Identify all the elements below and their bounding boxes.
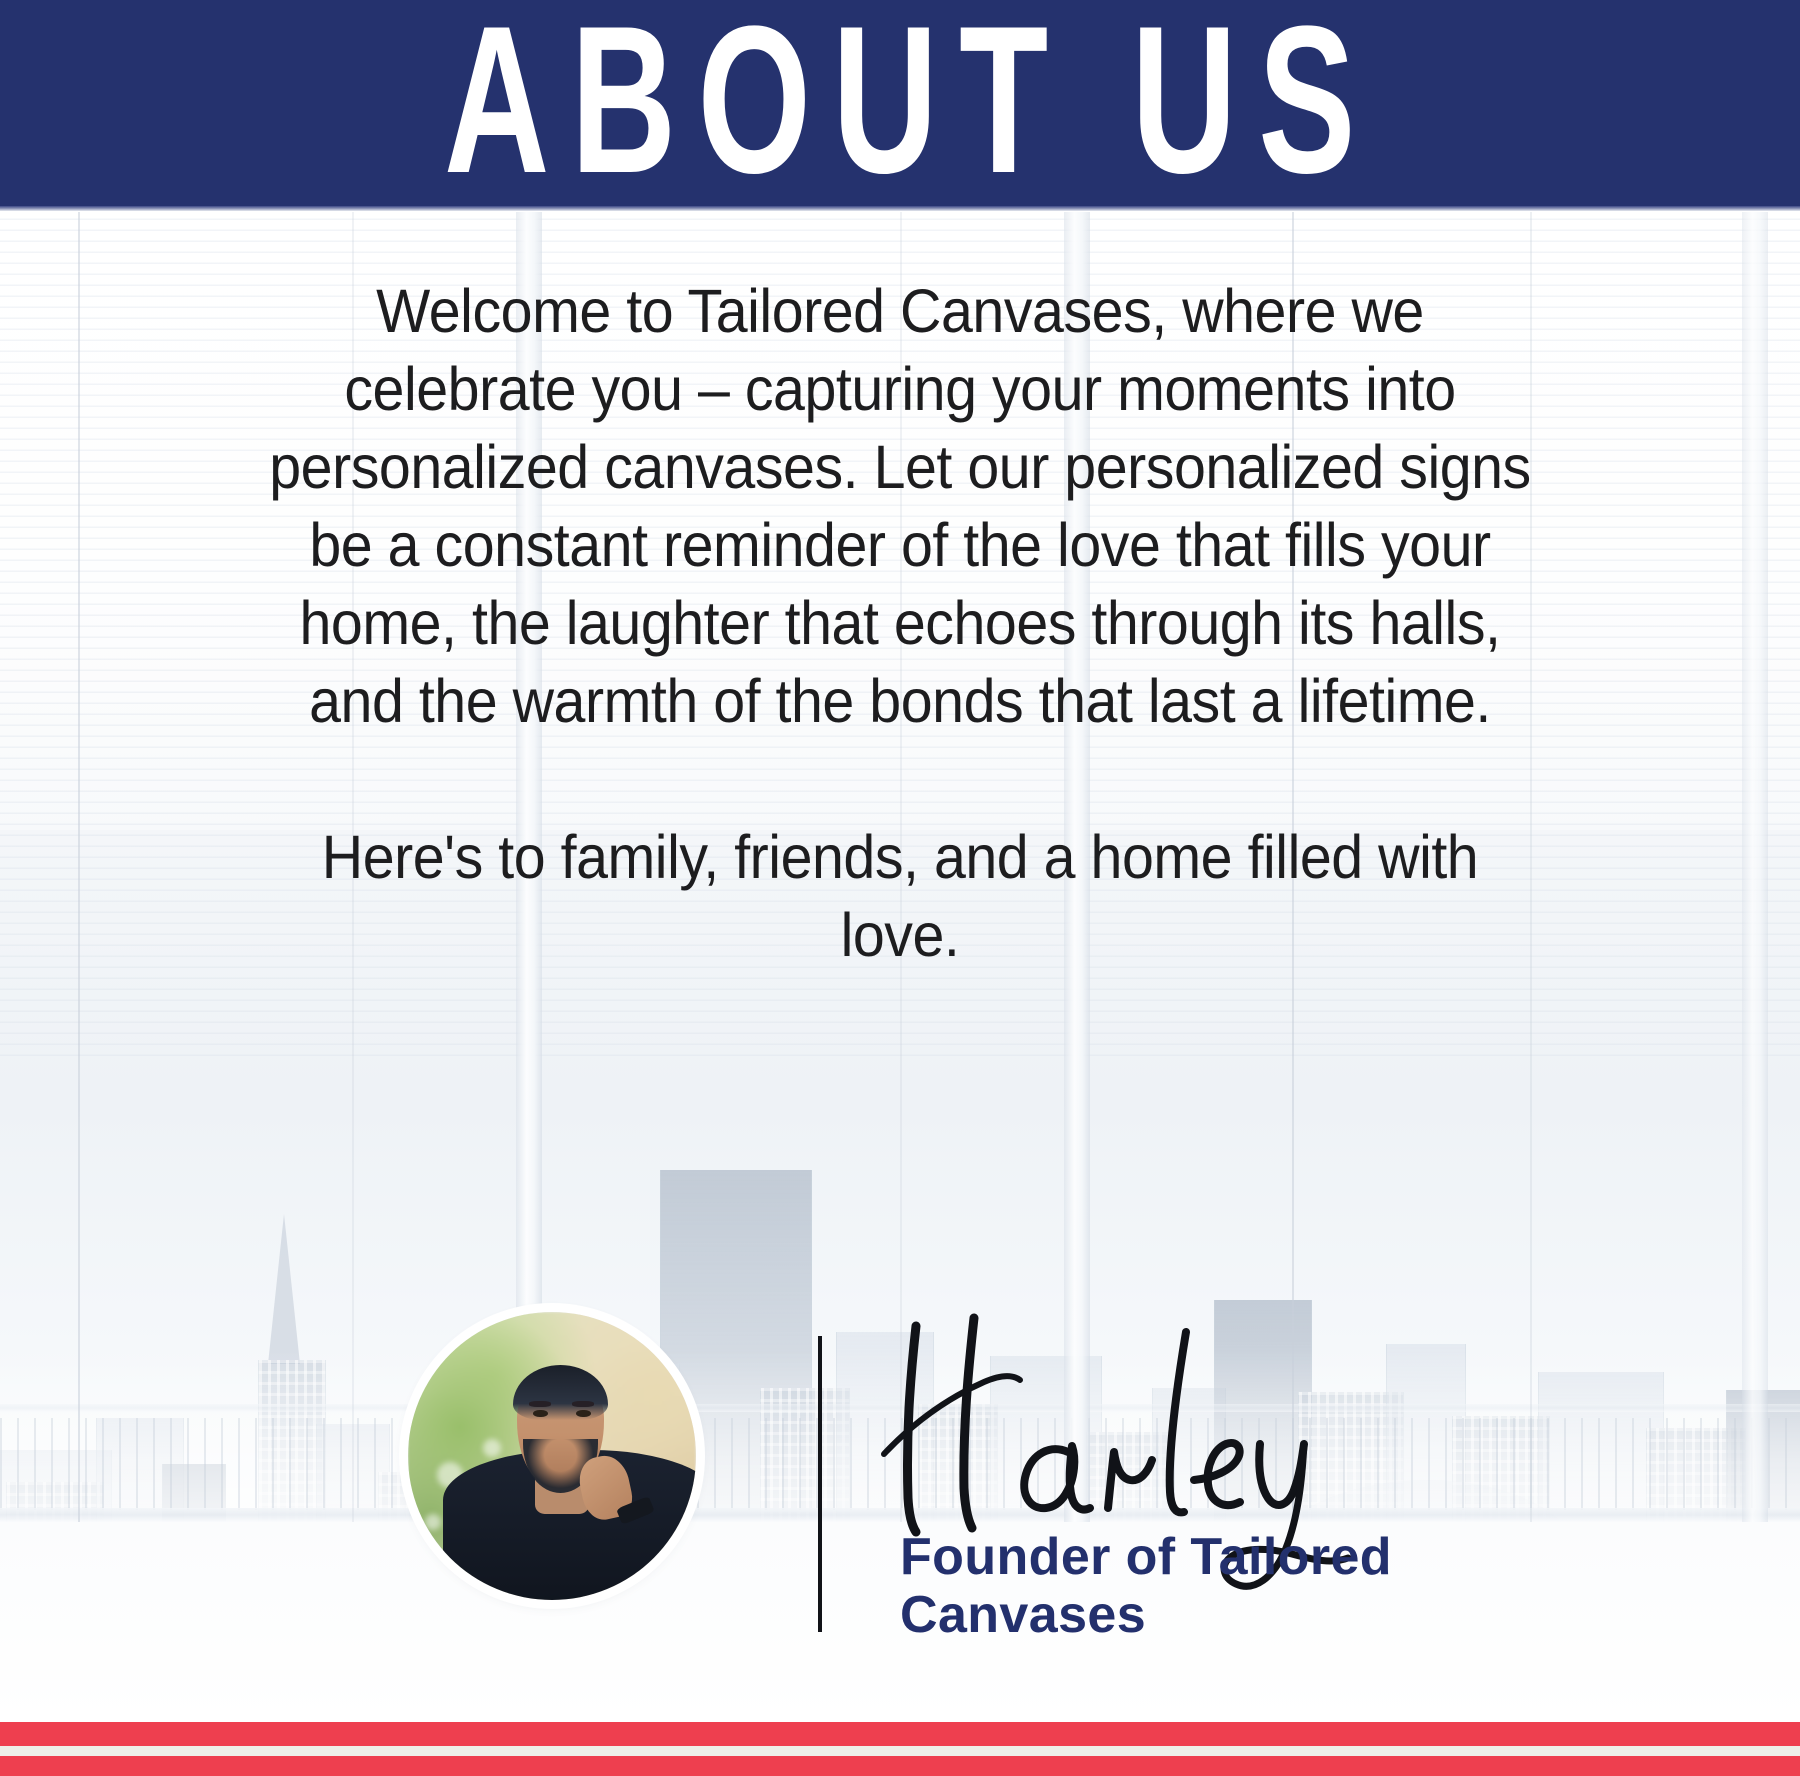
signature-role: Founder of Tailored Canvases (900, 1528, 1520, 1644)
window-mullion (1742, 212, 1768, 1612)
signature-role-line-1: Founder of Tailored (900, 1528, 1520, 1586)
signature-divider (818, 1336, 822, 1632)
about-copy: Welcome to Tailored Canvases, where we c… (256, 272, 1544, 974)
page-title: ABOUT US (423, 0, 1377, 205)
signature-harley (862, 1302, 1502, 1552)
footer-stripe-top (0, 1722, 1800, 1746)
about-us-poster: ABOUT US Welcome to Tailored Canvases, w… (0, 0, 1800, 1776)
footer-stripe-bottom (0, 1756, 1800, 1776)
about-paragraph-1: Welcome to Tailored Canvases, where we c… (256, 272, 1544, 740)
header-band: ABOUT US (0, 0, 1800, 206)
footer-stripe-gap (0, 1746, 1800, 1756)
header-underline (0, 206, 1800, 211)
paragraph-spacer (256, 740, 1544, 818)
window-mullion (78, 212, 80, 1612)
signature-role-line-2: Canvases (900, 1586, 1520, 1644)
avatar (408, 1312, 696, 1600)
founder-portrait (408, 1312, 696, 1600)
about-paragraph-2: Here's to family, friends, and a home fi… (256, 818, 1544, 974)
